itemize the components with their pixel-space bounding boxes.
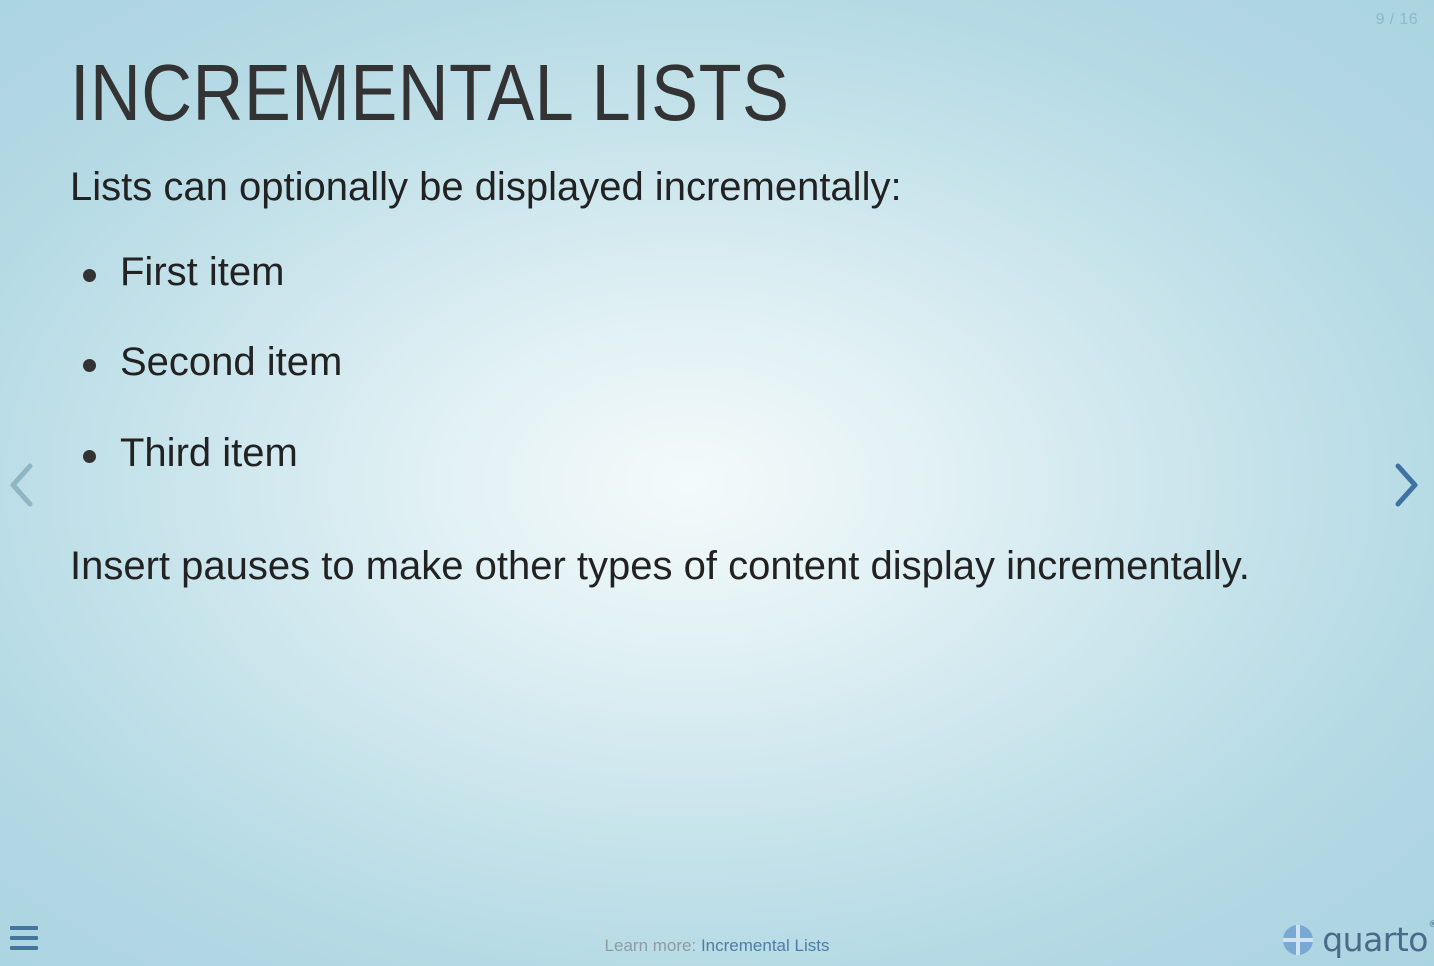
list-item: Third item bbox=[70, 429, 1360, 478]
slide-number-indicator: 9 / 16 bbox=[1376, 11, 1418, 29]
quarto-wordmark: quarto ® bbox=[1322, 923, 1428, 956]
chevron-left-icon bbox=[2, 458, 44, 512]
quarto-mark-icon bbox=[1283, 925, 1313, 955]
quarto-logo[interactable]: quarto ® bbox=[1283, 923, 1428, 956]
presentation-slide: 9 / 16 INCREMENTAL LISTS Lists can optio… bbox=[0, 0, 1434, 966]
learn-more-prefix: Learn more: bbox=[605, 936, 697, 955]
footer-note: Learn more: Incremental Lists bbox=[0, 936, 1434, 956]
quarto-wordmark-text: quarto bbox=[1322, 920, 1428, 959]
incremental-bullet-list: First item Second item Third item bbox=[70, 248, 1360, 478]
closing-paragraph: Insert pauses to make other types of con… bbox=[70, 540, 1300, 594]
page-title: INCREMENTAL LISTS bbox=[70, 52, 1205, 134]
registered-trademark-icon: ® bbox=[1429, 921, 1434, 930]
list-item-label: First item bbox=[120, 250, 284, 294]
slide-content: INCREMENTAL LISTS Lists can optionally b… bbox=[70, 52, 1360, 594]
list-item-label: Third item bbox=[120, 431, 298, 475]
hamburger-menu-icon bbox=[10, 926, 38, 930]
list-item-label: Second item bbox=[120, 340, 342, 384]
list-item: First item bbox=[70, 248, 1360, 297]
chevron-right-icon bbox=[1384, 458, 1426, 512]
next-slide-button[interactable] bbox=[1384, 458, 1426, 512]
footer-link[interactable]: Incremental Lists bbox=[701, 936, 830, 955]
list-item: Second item bbox=[70, 338, 1360, 387]
previous-slide-button[interactable] bbox=[2, 458, 44, 512]
intro-paragraph: Lists can optionally be displayed increm… bbox=[70, 162, 1360, 212]
